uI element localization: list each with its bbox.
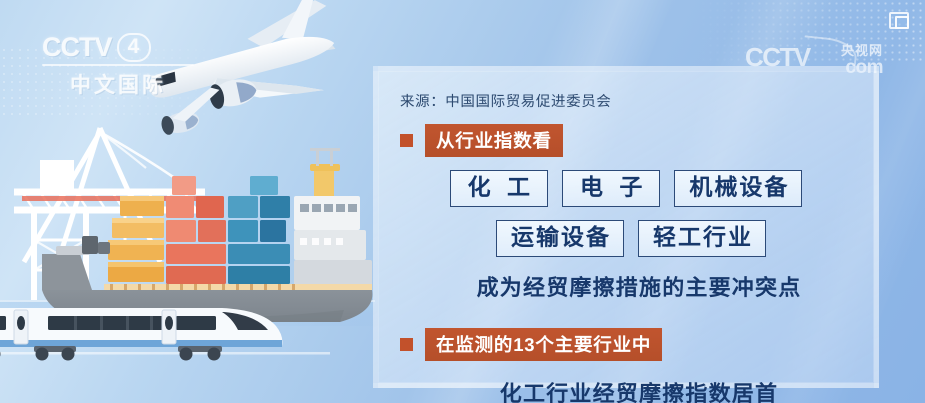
info-panel: 来源：中国国际贸易促进委员会 从行业指数看 化 工 电 子 机械设备 运输设备 …: [373, 66, 879, 388]
section1-headline: 成为经贸摩擦措施的主要冲突点: [400, 270, 852, 302]
section2-badge-row: 在监测的13个主要行业中: [400, 328, 852, 361]
industry-chip-row-2: 运输设备 轻工行业: [400, 220, 852, 257]
square-bullet-icon: [400, 338, 413, 351]
industry-chip: 化 工: [450, 170, 548, 207]
dot-texture-top-right: [665, 0, 925, 62]
containers-red: [166, 176, 226, 284]
watermark-cn-text: 央视网: [841, 40, 883, 59]
picture-in-picture-icon[interactable]: [889, 12, 909, 29]
industry-chip: 电 子: [562, 170, 660, 207]
section1-badge: 从行业指数看: [425, 124, 563, 157]
industry-chip: 运输设备: [496, 220, 624, 257]
containers-blue: [228, 176, 290, 284]
industry-chip: 机械设备: [674, 170, 802, 207]
section2-badge: 在监测的13个主要行业中: [425, 328, 662, 361]
broadcast-graphic-stage: CCTV 4 中文国际 CCTV 央视网 com 来源：中国国际贸易促进委员会 …: [0, 0, 925, 403]
section2: 在监测的13个主要行业中 化工行业经贸摩擦指数居首: [400, 328, 852, 403]
section2-headline: 化工行业经贸摩擦指数居首: [400, 376, 852, 403]
source-line: 来源：中国国际贸易促进委员会: [400, 90, 852, 111]
industry-chip: 轻工行业: [638, 220, 766, 257]
section1-badge-row: 从行业指数看: [400, 124, 852, 157]
industry-chip-row-1: 化 工 电 子 机械设备: [400, 170, 852, 207]
trade-logistics-illustration: [0, 0, 375, 403]
square-bullet-icon: [400, 134, 413, 147]
